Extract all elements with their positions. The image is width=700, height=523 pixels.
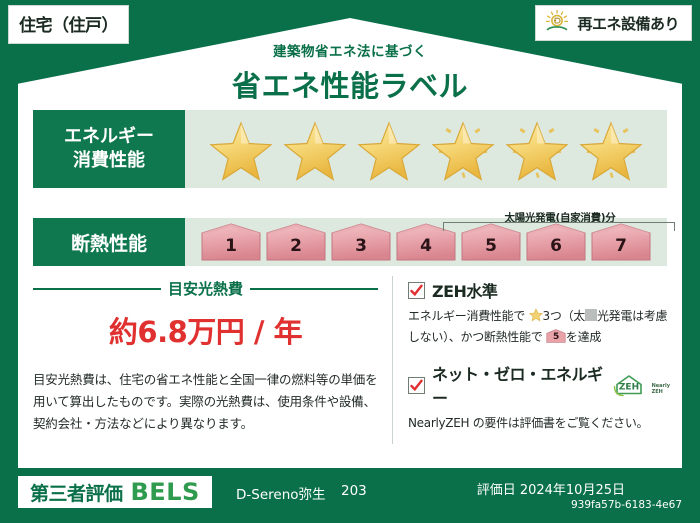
zeh-standard-item: ZEH水準 エネルギー消費性能で 3つ（太光発電は考慮しない）、かつ断熱性能で … bbox=[408, 278, 670, 347]
net-zero-energy-title: ネット・ゼロ・エネルギー bbox=[432, 361, 603, 409]
category-chip-label: 住宅（住戸） bbox=[19, 16, 118, 36]
check-icon bbox=[410, 284, 423, 297]
zeh-desc-part3: を達成 bbox=[566, 330, 601, 344]
unit-number: 203 bbox=[341, 483, 367, 499]
net-zero-energy-description: NearlyZEH の要件は評価書をご覧ください。 bbox=[408, 414, 670, 433]
heading-rule-left bbox=[33, 288, 161, 290]
net-zero-energy-item: ネット・ゼロ・エネルギー ZEH Nearly ZEH NearlyZEH bbox=[408, 361, 670, 433]
utility-cost-block: 目安光熱費 約6.8万円 / 年 目安光熱費は、住宅の省エネ性能と全国一律の燃料… bbox=[33, 278, 378, 435]
bels-energy-label: 住宅（住戸） 再エネ設備あり 建築物省エネ法に基づく bbox=[0, 0, 700, 523]
bels-chip-jp-label: 第三者評価 bbox=[30, 479, 123, 506]
footer-bar: 第三者評価 BELS D-Sereno弥生 203 評価日 2024年10月25… bbox=[0, 468, 700, 523]
column-divider bbox=[392, 276, 393, 444]
insulation-grade-2: 2 bbox=[264, 222, 328, 262]
energy-label-line1: エネルギー bbox=[64, 125, 154, 149]
star-icon-1 bbox=[208, 116, 274, 182]
svg-text:ZEH: ZEH bbox=[619, 383, 639, 393]
zeh-criteria-block: ZEH水準 エネルギー消費性能で 3つ（太光発電は考慮しない）、かつ断熱性能で … bbox=[408, 278, 670, 448]
evaluation-date: 評価日 2024年10月25日 bbox=[477, 479, 625, 498]
renewable-equipment-badge: 再エネ設備あり bbox=[535, 5, 692, 41]
energy-label-line2: 消費性能 bbox=[73, 149, 145, 173]
zeh-logo-sub2: ZEH bbox=[652, 389, 663, 395]
checkbox-zeh-standard[interactable] bbox=[408, 282, 425, 299]
insulation-performance-label: 断熱性能 bbox=[33, 218, 185, 266]
heading-rule-right bbox=[250, 288, 378, 290]
solar-annotation-bracket bbox=[443, 222, 675, 231]
insulation-grade-number: 1 bbox=[199, 222, 263, 262]
energy-performance-label: エネルギー 消費性能 bbox=[33, 110, 185, 188]
utility-cost-value: 約6.8万円 / 年 bbox=[33, 309, 378, 351]
inline-insulation-badge: 5 bbox=[546, 329, 566, 343]
insulation-grade-number: 2 bbox=[264, 222, 328, 262]
star-icon-5 bbox=[504, 116, 570, 182]
inline-insulation-badge-number: 5 bbox=[546, 329, 566, 343]
zeh-house-logo: ZEH Nearly ZEH bbox=[610, 373, 670, 397]
label-title-block: 建築物省エネ法に基づく 省エネ性能ラベル bbox=[0, 40, 700, 105]
star-rating-group bbox=[185, 110, 667, 188]
energy-performance-track bbox=[185, 110, 667, 188]
inline-star-icon bbox=[529, 308, 543, 328]
energy-performance-row: エネルギー 消費性能 bbox=[33, 110, 667, 188]
title-main: 省エネ性能ラベル bbox=[0, 63, 700, 105]
bels-chip-en-label: BELS bbox=[131, 478, 200, 506]
net-zero-energy-header: ネット・ゼロ・エネルギー ZEH Nearly ZEH bbox=[408, 361, 670, 409]
check-icon bbox=[410, 379, 423, 392]
utility-cost-heading: 目安光熱費 bbox=[33, 278, 378, 299]
insulation-grade-1: 1 bbox=[199, 222, 263, 262]
checkbox-net-zero-energy[interactable] bbox=[408, 377, 425, 394]
insulation-label-text: 断熱性能 bbox=[71, 229, 147, 256]
bels-certification-chip: 第三者評価 BELS bbox=[18, 476, 212, 508]
zeh-logo-icon: ZEH bbox=[610, 373, 650, 397]
zeh-standard-header: ZEH水準 bbox=[408, 278, 670, 302]
evaluation-id: 939fa57b-6183-4e67 bbox=[571, 499, 682, 511]
zeh-standard-description: エネルギー消費性能で 3つ（太光発電は考慮しない）、かつ断熱性能で 5 を達成 bbox=[408, 307, 670, 347]
zeh-logo-sublabel: Nearly ZEH bbox=[652, 384, 670, 397]
insulation-grade-3: 3 bbox=[329, 222, 393, 262]
utility-cost-heading-label: 目安光熱費 bbox=[168, 278, 243, 299]
utility-cost-note: 目安光熱費は、住宅の省エネ性能と全国一律の燃料等の単価を用いて算出したものです。… bbox=[33, 369, 378, 435]
solar-sun-icon bbox=[544, 9, 570, 37]
star-icon-3 bbox=[356, 116, 422, 182]
main-content: 太陽光発電(自家消費)分 エネルギー 消費性能 bbox=[18, 100, 682, 455]
star-icon-2 bbox=[282, 116, 348, 182]
category-chip: 住宅（住戸） bbox=[8, 5, 129, 44]
missing-glyph-box bbox=[585, 309, 597, 321]
building-name: D-Sereno弥生 bbox=[236, 483, 326, 503]
star-icon-4 bbox=[430, 116, 496, 182]
insulation-grade-number: 3 bbox=[329, 222, 393, 262]
zeh-desc-part1: エネルギー消費性能で bbox=[408, 309, 525, 323]
zeh-desc-star-count: 3つ（太 bbox=[543, 309, 585, 323]
renewable-badge-label: 再エネ設備あり bbox=[577, 13, 679, 34]
star-icon-6 bbox=[578, 116, 644, 182]
zeh-standard-title: ZEH水準 bbox=[432, 278, 497, 302]
